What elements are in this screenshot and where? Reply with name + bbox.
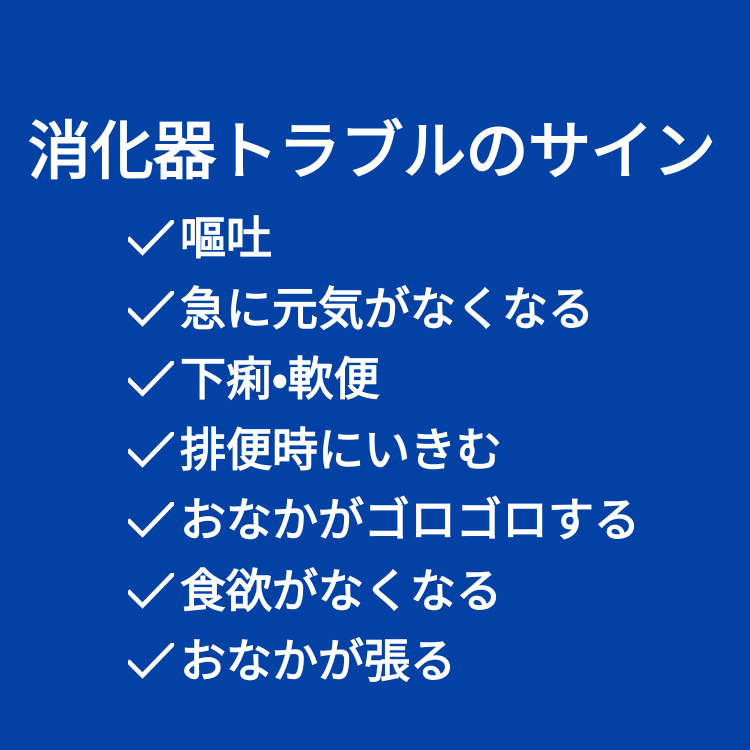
list-item-label: おなかが張る xyxy=(180,636,456,686)
title-block: 消化器トラブルのサイン xyxy=(0,62,750,167)
list-item-label: 食欲がなくなる xyxy=(180,566,502,616)
check-icon xyxy=(128,502,174,538)
list-item-label: 下痢・軟便 xyxy=(180,354,380,404)
list-item: 食欲がなくなる xyxy=(0,556,750,627)
list-item: 急に元気がなくなる xyxy=(0,274,750,345)
check-icon xyxy=(128,573,174,609)
check-icon xyxy=(128,361,174,397)
check-icon xyxy=(128,220,174,256)
list-item-label: 嘔吐 xyxy=(180,213,272,263)
list-item-label: 急に元気がなくなる xyxy=(180,284,594,334)
list-item-label: おなかがゴロゴロする xyxy=(180,495,640,545)
list-item: おなかが張る xyxy=(0,626,750,697)
check-icon xyxy=(128,643,174,679)
list-item: 嘔吐 xyxy=(0,203,750,274)
list-item: 排便時にいきむ xyxy=(0,415,750,486)
symptom-list: 嘔吐 急に元気がなくなる 下痢・軟便 排 xyxy=(0,203,750,697)
list-item: おなかがゴロゴロする xyxy=(0,485,750,556)
list-item: 下痢・軟便 xyxy=(0,344,750,415)
check-icon xyxy=(128,432,174,468)
check-icon xyxy=(128,291,174,327)
poster-canvas: 消化器トラブルのサイン 嘔吐 急に元気がなくなる xyxy=(0,0,750,750)
page-title: 消化器トラブルのサイン xyxy=(28,104,728,200)
list-item-label: 排便時にいきむ xyxy=(180,425,502,475)
